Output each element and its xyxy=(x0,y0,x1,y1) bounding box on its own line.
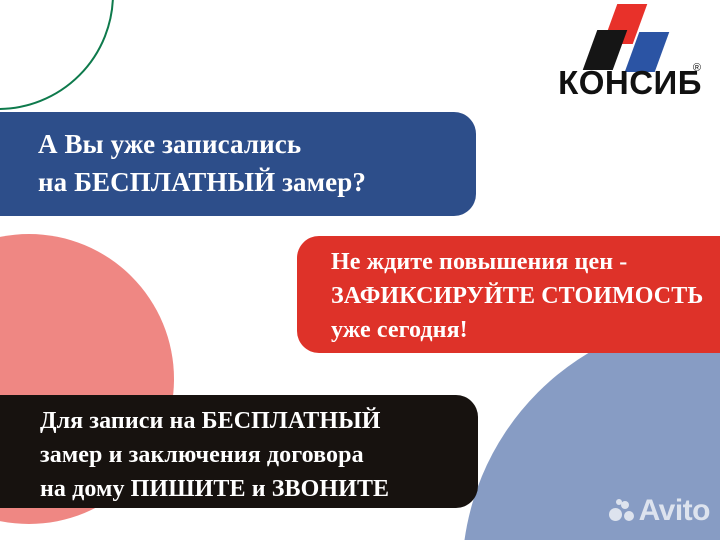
registered-trademark-icon: ® xyxy=(693,62,701,74)
advertisement-banner: КОНСИБ ® А Вы уже записались на БЕСПЛАТН… xyxy=(0,0,720,540)
message-box-red-line-1: Не ждите повышения цен - xyxy=(331,245,720,279)
message-box-red-line-3: уже сегодня! xyxy=(331,313,720,347)
headline-box-blue-line-1: А Вы уже записались xyxy=(38,125,476,163)
logo-mark-group xyxy=(582,4,670,70)
decorative-circle-green-outline xyxy=(0,0,114,110)
message-box-black-line-3: на дому ПИШИТЕ и ЗВОНИТЕ xyxy=(40,472,478,506)
headline-box-blue-line-2: на БЕСПЛАТНЫЙ замер? xyxy=(38,163,476,201)
message-box-black-line-2: замер и заключения договора xyxy=(40,438,478,472)
avito-watermark: Avito xyxy=(609,494,710,528)
message-box-black-line-1: Для записи на БЕСПЛАТНЫЙ xyxy=(40,404,478,438)
avito-wordmark: Avito xyxy=(639,496,710,526)
message-box-red: Не ждите повышения цен - ЗАФИКСИРУЙТЕ СТ… xyxy=(297,236,720,353)
logo-wordmark: КОНСИБ xyxy=(522,66,702,99)
company-logo: КОНСИБ ® xyxy=(522,4,702,108)
message-box-black: Для записи на БЕСПЛАТНЫЙ замер и заключе… xyxy=(0,395,478,508)
avito-dots-icon xyxy=(609,499,634,523)
headline-box-blue: А Вы уже записались на БЕСПЛАТНЫЙ замер? xyxy=(0,112,476,216)
message-box-red-line-2: ЗАФИКСИРУЙТЕ СТОИМОСТЬ xyxy=(331,279,720,313)
